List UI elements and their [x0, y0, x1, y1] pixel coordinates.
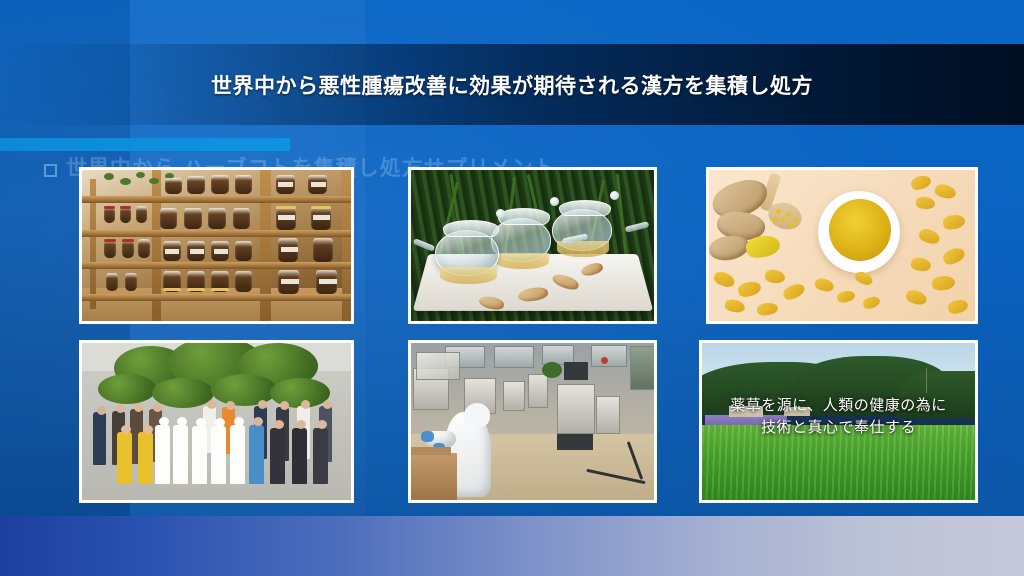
jar-label [313, 215, 330, 220]
photo-herb-field: 薬草を源に、人類の健康の為に 技術と真心で奉仕する [699, 340, 978, 503]
person-cap [159, 417, 169, 426]
herb-jar [184, 208, 202, 229]
herb-jar [104, 239, 116, 257]
person-yellow-dress [138, 432, 153, 484]
jar-lid [163, 288, 181, 291]
ivy-leaf [149, 178, 159, 184]
jar-lid [104, 239, 116, 242]
machine-base [557, 434, 593, 450]
photo-glass-teapots-content [411, 170, 654, 321]
teapot-lid [498, 208, 550, 225]
herb-jar [235, 271, 252, 292]
herb-jar [211, 175, 229, 195]
person-white-uniform [230, 425, 245, 485]
worker-hood [464, 403, 490, 427]
person-white-uniform [211, 426, 226, 484]
person-head [258, 400, 267, 409]
photo-herb-field-content: 薬草を源に、人類の健康の為に 技術と真心で奉仕する [702, 343, 975, 500]
jar-label [278, 215, 295, 220]
jar-lid [120, 206, 131, 209]
jar-lid [311, 206, 331, 209]
person-head [301, 400, 310, 409]
shelf-board [82, 230, 351, 237]
person-white-uniform [155, 425, 170, 485]
person-head [323, 400, 332, 409]
shelf-board [82, 262, 351, 269]
turmeric-pellet [776, 209, 781, 214]
teapot-lid [559, 200, 611, 216]
shelf-board [82, 196, 351, 203]
jar-label [319, 279, 337, 284]
machine-panel [564, 362, 588, 380]
shrub [152, 378, 214, 408]
photo-glass-teapots [408, 167, 657, 324]
jar-lid [276, 206, 296, 209]
herb-jar [235, 175, 252, 195]
person-head [121, 425, 131, 434]
turmeric-pellet [794, 217, 799, 222]
tea-liquid [440, 267, 497, 284]
person-head [280, 401, 289, 410]
jar-label [190, 249, 204, 254]
teapot-knob [550, 197, 559, 206]
turmeric-pellet [789, 223, 794, 228]
photo-caption-overlay: 薬草を源に、人類の健康の為に 技術と真心で奉仕する [702, 395, 975, 439]
cardboard-box-flap [411, 447, 451, 455]
person-head [226, 401, 235, 410]
caption-line-1: 薬草を源に、人類の健康の為に [730, 397, 947, 414]
person-head [296, 420, 306, 429]
factory-machine [503, 381, 525, 411]
person-head [253, 417, 263, 426]
packaging-machine [557, 384, 595, 434]
jar-label [281, 247, 298, 252]
person [313, 428, 328, 485]
covered-equipment [416, 352, 460, 380]
photo-factory-content [411, 343, 654, 500]
plant [542, 362, 562, 378]
herb-jar [208, 208, 226, 229]
factory-machine [528, 374, 548, 408]
turmeric-powder [829, 199, 891, 261]
factory-window [630, 346, 654, 390]
person-blue-shirt [249, 425, 264, 485]
herb-jar [160, 208, 177, 229]
accent-bar [0, 138, 290, 151]
person-white-uniform [192, 426, 207, 484]
herb-jar [165, 178, 182, 195]
photo-group-content [82, 343, 351, 500]
ivy-leaf [120, 178, 131, 185]
herb-jar [313, 238, 333, 262]
jar-lid [211, 288, 229, 291]
person [292, 428, 307, 485]
herb-jar [235, 241, 252, 261]
jar-label [278, 182, 293, 187]
turmeric-pellet [773, 217, 778, 222]
jar-label [214, 249, 228, 254]
person-head [153, 403, 162, 412]
herb-jar [136, 206, 147, 223]
herb-jar [125, 273, 137, 291]
person-cap [234, 417, 244, 426]
jar-lid [104, 206, 115, 209]
person [270, 428, 285, 485]
herb-jar [122, 239, 134, 257]
photo-herb-pharmacy [79, 167, 354, 324]
factory-window [494, 346, 534, 368]
herb-jar [106, 273, 118, 291]
square-bullet-icon [44, 164, 57, 177]
presentation-slide: 世界中から悪性腫瘍改善に効果が期待される漢方を集積し処方 世界中から ハーブコト… [0, 0, 1024, 576]
person-head [207, 400, 216, 409]
photo-turmeric-content [709, 170, 975, 321]
person-white-uniform [173, 425, 188, 485]
packaging-machine [596, 396, 620, 434]
utility-pole [926, 368, 927, 393]
ivy-leaf [136, 172, 145, 178]
photo-factory [408, 340, 657, 503]
cardboard-box [411, 453, 457, 500]
person-head [116, 404, 125, 413]
teapot-lid [443, 220, 499, 237]
jar-label [165, 249, 179, 254]
jar-lid [187, 288, 205, 291]
person-yellow-dress [117, 432, 132, 484]
person-head [97, 406, 106, 415]
bottom-gradient-band [0, 516, 1024, 576]
page-title: 世界中から悪性腫瘍改善に効果が期待される漢方を集積し処方 [0, 70, 1024, 100]
indicator-light [601, 357, 608, 364]
factory-window [591, 345, 627, 367]
photo-turmeric [706, 167, 978, 324]
ivy-leaf [104, 173, 114, 180]
tea-liquid [496, 253, 549, 269]
herb-jar [233, 208, 250, 229]
worker-glove [421, 431, 434, 442]
jar-label [311, 182, 326, 187]
caption-line-2: 技術と真心で奉仕する [702, 417, 975, 439]
person [93, 412, 106, 465]
jar-label [281, 279, 299, 284]
herb-jar [187, 176, 205, 194]
person-head [143, 425, 153, 434]
pharmacy-floor [82, 288, 351, 321]
photo-herb-pharmacy-content [82, 170, 351, 321]
shelf-board [82, 294, 351, 301]
herb-jar [138, 239, 150, 257]
photo-group [79, 340, 354, 503]
